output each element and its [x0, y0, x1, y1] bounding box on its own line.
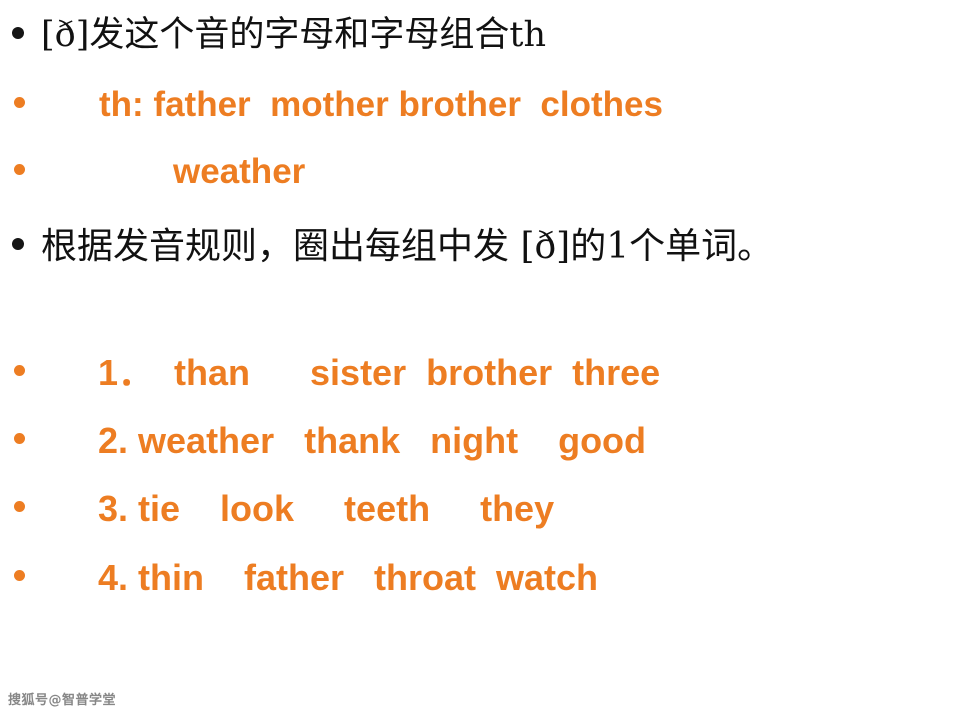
bullet-point-icon: [14, 164, 25, 175]
bullet-line-example-1: th: father mother brother clothes: [14, 84, 663, 126]
bullet-line-question-3: 3. tie look teeth they: [14, 487, 554, 531]
bullet-point-icon: [14, 570, 25, 581]
instruction-text: 根据发音规则，圈出每组中发 [ð]的1个单词。: [41, 221, 773, 272]
slide-canvas: [ð]发这个音的字母和字母组合th th: father mother brot…: [0, 0, 960, 720]
title-text: [ð]发这个音的字母和字母组合th: [41, 14, 546, 56]
bullet-point-icon: [14, 501, 25, 512]
watermark-label: 搜狐号@智普学堂: [8, 689, 116, 708]
example-text-2: weather: [173, 151, 305, 193]
bullet-point-icon: [14, 97, 25, 108]
question-text-1: 1． than sister brother three: [98, 351, 660, 395]
example-text-1: th: father mother brother clothes: [99, 84, 663, 126]
bullet-point-icon: [12, 27, 24, 39]
bullet-line-instruction: 根据发音规则，圈出每组中发 [ð]的1个单词。: [12, 221, 950, 272]
bullet-line-question-1: 1． than sister brother three: [14, 351, 660, 395]
bullet-line-question-4: 4. thin father throat watch: [14, 556, 598, 600]
bullet-point-icon: [14, 433, 25, 444]
question-text-4: 4. thin father throat watch: [98, 556, 598, 600]
question-text-3: 3. tie look teeth they: [98, 487, 554, 531]
bullet-point-icon: [12, 238, 24, 250]
bullet-point-icon: [14, 365, 25, 376]
bullet-line-question-2: 2. weather thank night good: [14, 419, 646, 463]
bullet-line-title: [ð]发这个音的字母和字母组合th: [12, 14, 546, 56]
bullet-line-example-2: weather: [14, 151, 305, 193]
question-text-2: 2. weather thank night good: [98, 419, 646, 463]
